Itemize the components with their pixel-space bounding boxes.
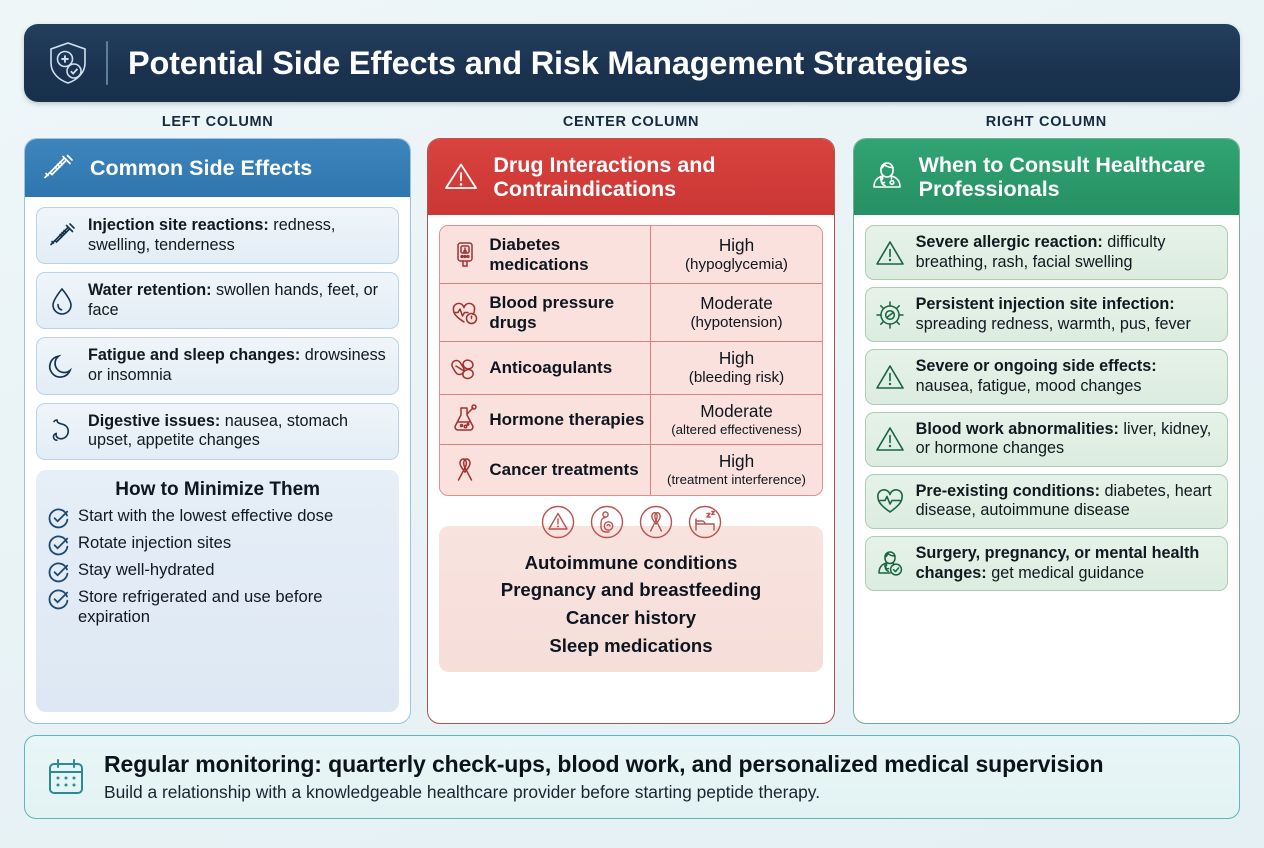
- warning-triangle-icon: [874, 423, 906, 455]
- card-when-to-consult: When to Consult Healthcare Professionals…: [853, 138, 1240, 724]
- table-cell-drug-name: Diabetes medications: [489, 235, 644, 274]
- risk-detail: (altered effectiveness): [656, 422, 816, 437]
- contraindication-line: Autoimmune conditions: [449, 549, 812, 577]
- right-card-title: When to Consult Healthcare Professionals: [919, 153, 1225, 202]
- list-item-rest: nausea, fatigue, mood changes: [916, 377, 1142, 395]
- warning-triangle-icon: [442, 158, 480, 196]
- minimize-tip: Store refrigerated and use before expira…: [78, 587, 387, 627]
- table-row: Hormone therapies Moderate (altered effe…: [440, 395, 821, 445]
- column-labels: LEFT COLUMN CENTER COLUMN RIGHT COLUMN: [24, 114, 1240, 130]
- table-cell-drug: Hormone therapies: [440, 395, 651, 444]
- contraindication-line: Sleep medications: [449, 632, 812, 660]
- list-item-text: Severe or ongoing side effects: nausea, …: [916, 357, 1217, 396]
- list-item-rest: get medical guidance: [987, 564, 1144, 582]
- minimize-tip: Stay well-hydrated: [78, 560, 215, 580]
- list-item-rest: spreading redness, warmth, pus, fever: [916, 315, 1191, 333]
- right-card-body: Severe allergic reaction: difficulty bre…: [854, 215, 1239, 723]
- footer-headline: Regular monitoring: quarterly check-ups,…: [104, 751, 1103, 779]
- list-item-bold: Severe allergic reaction:: [916, 233, 1103, 251]
- list-item-text: Digestive issues: nausea, stomach upset,…: [88, 412, 387, 451]
- syringe-icon: [39, 149, 77, 187]
- warning-triangle-icon: [874, 237, 906, 269]
- table-cell-risk: Moderate (hypotension): [651, 284, 821, 341]
- risk-level: Moderate: [656, 402, 816, 422]
- page-title: Potential Side Effects and Risk Manageme…: [128, 45, 968, 82]
- list-item-text: Water retention: swollen hands, feet, or…: [88, 281, 387, 320]
- table-cell-drug-name: Anticoagulants: [489, 358, 612, 378]
- left-card-title: Common Side Effects: [90, 156, 312, 181]
- list-item-text: Blood work abnormalities: liver, kidney,…: [916, 420, 1217, 459]
- table-row: Blood pressure drugs Moderate (hypotensi…: [440, 284, 821, 342]
- risk-level: High: [656, 452, 816, 472]
- risk-detail: (bleeding risk): [656, 369, 816, 387]
- list-item-text: Injection site reactions: redness, swell…: [88, 216, 387, 255]
- table-cell-drug-name: Blood pressure drugs: [489, 293, 644, 332]
- list-item-text: Surgery, pregnancy, or mental health cha…: [916, 544, 1217, 583]
- minimize-tip: Rotate injection sites: [78, 533, 231, 553]
- table-row: Anticoagulants High (bleeding risk): [440, 342, 821, 395]
- infection-germ-icon: [874, 299, 906, 331]
- list-item: Store refrigerated and use before expira…: [48, 587, 387, 627]
- minimize-box: How to Minimize Them Start with the lowe…: [36, 470, 399, 712]
- water-drop-icon: [46, 285, 78, 317]
- left-card-body: Injection site reactions: redness, swell…: [25, 197, 410, 723]
- footer-subtext: Build a relationship with a knowledgeabl…: [104, 782, 1103, 803]
- risk-detail: (treatment interference): [656, 472, 816, 487]
- contraindications-box: Autoimmune conditions Pregnancy and brea…: [439, 526, 822, 673]
- minimize-tip: Start with the lowest effective dose: [78, 506, 333, 526]
- infographic-page: Potential Side Effects and Risk Manageme…: [0, 0, 1264, 848]
- columns-row: Common Side Effects Injection site react…: [24, 138, 1240, 724]
- awareness-ribbon-icon: [450, 455, 480, 485]
- list-item-bold: Injection site reactions:: [88, 216, 269, 234]
- card-common-side-effects: Common Side Effects Injection site react…: [24, 138, 411, 724]
- risk-level: High: [656, 236, 816, 256]
- page-header: Potential Side Effects and Risk Manageme…: [24, 24, 1240, 102]
- check-circle-icon: [48, 562, 69, 583]
- stomach-icon: [46, 415, 78, 447]
- table-cell-drug: Anticoagulants: [440, 342, 651, 394]
- table-cell-drug-name: Hormone therapies: [489, 410, 644, 430]
- table-cell-drug: Diabetes medications: [440, 226, 651, 283]
- list-item-text: Fatigue and sleep changes: drowsiness or…: [88, 346, 387, 385]
- title-divider: [106, 41, 108, 85]
- contraindication-line: Cancer history: [449, 604, 812, 632]
- table-cell-risk: High (hypoglycemia): [651, 226, 821, 283]
- interactions-table: Diabetes medications High (hypoglycemia): [439, 225, 822, 496]
- right-card-header: When to Consult Healthcare Professionals: [854, 139, 1239, 215]
- center-card-header: Drug Interactions and Contraindications: [428, 139, 833, 215]
- list-item-text: Severe allergic reaction: difficulty bre…: [916, 233, 1217, 272]
- list-item-bold: Blood work abnormalities:: [916, 420, 1119, 438]
- minimize-title: How to Minimize Them: [48, 479, 387, 501]
- table-row: Diabetes medications High (hypoglycemia): [440, 226, 821, 284]
- table-row: Cancer treatments High (treatment interf…: [440, 445, 821, 494]
- glucose-meter-icon: [450, 240, 480, 270]
- list-item: Blood work abnormalities: liver, kidney,…: [865, 412, 1228, 467]
- label-left-column: LEFT COLUMN: [24, 114, 411, 130]
- list-item-text: Pre-existing conditions: diabetes, heart…: [916, 482, 1217, 521]
- warning-triangle-circle-icon: [541, 505, 575, 539]
- list-item: Injection site reactions: redness, swell…: [36, 207, 399, 264]
- center-card-body: Diabetes medications High (hypoglycemia): [428, 215, 833, 723]
- check-circle-icon: [48, 589, 69, 610]
- label-right-column: RIGHT COLUMN: [853, 114, 1240, 130]
- label-center-column: CENTER COLUMN: [427, 114, 834, 130]
- list-item: Water retention: swollen hands, feet, or…: [36, 272, 399, 329]
- table-cell-risk: High (bleeding risk): [651, 342, 821, 394]
- awareness-ribbon-circle-icon: [639, 505, 673, 539]
- list-item-bold: Severe or ongoing side effects:: [916, 357, 1157, 375]
- moon-icon: [46, 350, 78, 382]
- flask-hormone-icon: [450, 404, 480, 434]
- list-item: Digestive issues: nausea, stomach upset,…: [36, 403, 399, 460]
- list-item: Severe allergic reaction: difficulty bre…: [865, 225, 1228, 280]
- table-cell-drug: Cancer treatments: [440, 445, 651, 494]
- list-item: Severe or ongoing side effects: nausea, …: [865, 349, 1228, 404]
- table-cell-drug-name: Cancer treatments: [489, 460, 638, 480]
- list-item: Stay well-hydrated: [48, 560, 387, 583]
- list-item-bold: Water retention:: [88, 281, 212, 299]
- risk-level: High: [656, 349, 816, 369]
- list-item-bold: Fatigue and sleep changes:: [88, 346, 300, 364]
- list-item: Pre-existing conditions: diabetes, heart…: [865, 474, 1228, 529]
- heart-pulse-icon: [450, 298, 480, 328]
- card-drug-interactions: Drug Interactions and Contraindications: [427, 138, 834, 724]
- list-item-bold: Digestive issues:: [88, 412, 220, 430]
- risk-icons-row: [439, 505, 822, 539]
- doctor-icon: [868, 158, 906, 196]
- list-item: Surgery, pregnancy, or mental health cha…: [865, 536, 1228, 591]
- check-circle-icon: [48, 508, 69, 529]
- risk-level: Moderate: [656, 294, 816, 314]
- pills-icon: [450, 353, 480, 383]
- table-cell-drug: Blood pressure drugs: [440, 284, 651, 341]
- list-item: Rotate injection sites: [48, 533, 387, 556]
- risk-detail: (hypoglycemia): [656, 256, 816, 274]
- list-item-bold: Pre-existing conditions:: [916, 482, 1100, 500]
- list-item: Start with the lowest effective dose: [48, 506, 387, 529]
- syringe-icon: [46, 220, 78, 252]
- footer-banner: Regular monitoring: quarterly check-ups,…: [24, 735, 1240, 819]
- risk-detail: (hypotension): [656, 314, 816, 332]
- bed-sleep-circle-icon: [688, 505, 722, 539]
- warning-triangle-icon: [874, 361, 906, 393]
- list-item: Fatigue and sleep changes: drowsiness or…: [36, 337, 399, 394]
- contraindication-line: Pregnancy and breastfeeding: [449, 576, 812, 604]
- heart-pulse-icon: [874, 485, 906, 517]
- left-card-header: Common Side Effects: [25, 139, 410, 197]
- list-item-text: Persistent injection site infection: spr…: [916, 295, 1217, 334]
- center-card-title: Drug Interactions and Contraindications: [493, 153, 819, 202]
- check-circle-icon: [48, 535, 69, 556]
- list-item-bold: Persistent injection site infection:: [916, 295, 1175, 313]
- shield-medical-check-icon: [46, 40, 90, 86]
- table-cell-risk: Moderate (altered effectiveness): [651, 395, 821, 444]
- pregnancy-breastfeeding-circle-icon: [590, 505, 624, 539]
- list-item: Persistent injection site infection: spr…: [865, 287, 1228, 342]
- calendar-icon: [45, 756, 87, 798]
- footer-text-group: Regular monitoring: quarterly check-ups,…: [104, 751, 1103, 802]
- table-cell-risk: High (treatment interference): [651, 445, 821, 494]
- doctor-check-icon: [874, 548, 906, 580]
